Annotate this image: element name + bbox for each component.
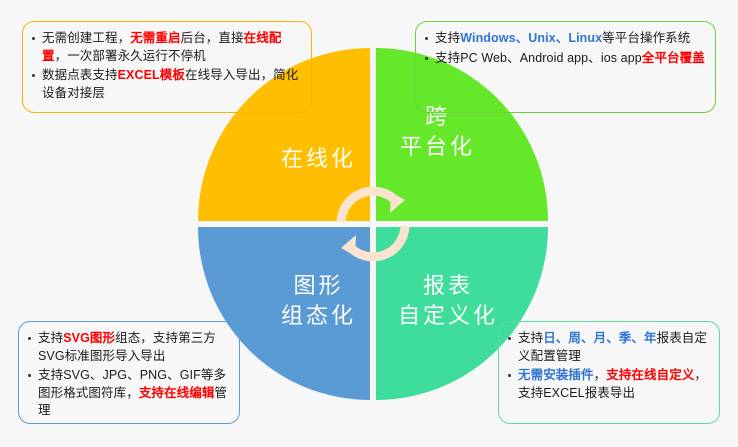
list-item: 无需创建工程，无需重启后台，直接在线配置，一次部署永久运行不停机: [31, 30, 301, 65]
callout-cross-platform-list: 支持Windows、Unix、Linux等平台操作系统 支持PC Web、And…: [424, 30, 705, 67]
list-item: 支持PC Web、Android app、ios app全平台覆盖: [424, 50, 705, 68]
list-item: 支持SVG图形组态，支持第三方SVG标准图形导入导出: [27, 330, 229, 365]
text-run: ，: [594, 368, 607, 382]
callout-graphics-list: 支持SVG图形组态，支持第三方SVG标准图形导入导出 支持SVG、JPG、PNG…: [27, 330, 229, 420]
quadrant-cross-platform-line-2: 平台化: [400, 132, 475, 162]
list-item: 无需安装插件，支持在线自定义，支持EXCEL报表导出: [507, 367, 709, 402]
text-run: 支持在线编辑: [139, 386, 215, 400]
text-run: Windows、Unix、Linux: [460, 31, 602, 45]
text-run: 等平台操作系统: [602, 31, 690, 45]
text-run: 支持PC Web、Android app、ios app: [435, 51, 642, 65]
quadrant-online-label: 在线化: [281, 144, 356, 174]
quadrant-graphics-line-1: 图形: [281, 271, 356, 301]
list-item: 支持SVG、JPG、PNG、GIF等多图形格式图符库，支持在线编辑管理: [27, 367, 229, 420]
callout-reports: 支持日、周、月、季、年报表自定义配置管理 无需安装插件，支持在线自定义，支持EX…: [498, 321, 720, 424]
quadrant-graphics-line-2: 组态化: [281, 301, 356, 331]
quadrant-reports-line-1: 报表: [398, 271, 498, 301]
text-run: 支持: [518, 331, 543, 345]
text-run: 支持: [38, 331, 63, 345]
callout-cross-platform: 支持Windows、Unix、Linux等平台操作系统 支持PC Web、And…: [415, 21, 716, 113]
callout-reports-list: 支持日、周、月、季、年报表自定义配置管理 无需安装插件，支持在线自定义，支持EX…: [507, 330, 709, 402]
text-run: 无需重启: [130, 31, 180, 45]
text-run: 无需安装插件: [518, 368, 594, 382]
quadrant-graphics-label: 图形 组态化: [281, 271, 356, 331]
text-run: 全平台覆盖: [642, 51, 705, 65]
quadrant-reports-label: 报表 自定义化: [398, 271, 498, 331]
list-item: 数据点表支持EXCEL模板在线导入导出，简化设备对接层: [31, 67, 301, 102]
text-run: EXCEL模板: [118, 68, 185, 82]
quadrant-online-line-1: 在线化: [281, 144, 356, 174]
text-run: 后台，直接: [181, 31, 244, 45]
list-item: 支持Windows、Unix、Linux等平台操作系统: [424, 30, 705, 48]
text-run: 支持: [435, 31, 460, 45]
text-run: ，一次部署永久运行不停机: [55, 49, 206, 63]
callout-graphics: 支持SVG图形组态，支持第三方SVG标准图形导入导出 支持SVG、JPG、PNG…: [18, 321, 240, 424]
text-run: 无需创建工程，: [42, 31, 130, 45]
callout-online-list: 无需创建工程，无需重启后台，直接在线配置，一次部署永久运行不停机 数据点表支持E…: [31, 30, 301, 102]
text-run: 数据点表支持: [42, 68, 118, 82]
text-run: SVG图形: [63, 331, 115, 345]
callout-online: 无需创建工程，无需重启后台，直接在线配置，一次部署永久运行不停机 数据点表支持E…: [22, 21, 312, 113]
list-item: 支持日、周、月、季、年报表自定义配置管理: [507, 330, 709, 365]
quadrant-reports-line-2: 自定义化: [398, 301, 498, 331]
diagram-canvas: 在线化 跨 平台化 图形 组态化 报表 自定义化: [0, 0, 738, 447]
text-run: 日、周、月、季、年: [543, 331, 656, 345]
text-run: 支持在线自定义: [606, 368, 694, 382]
